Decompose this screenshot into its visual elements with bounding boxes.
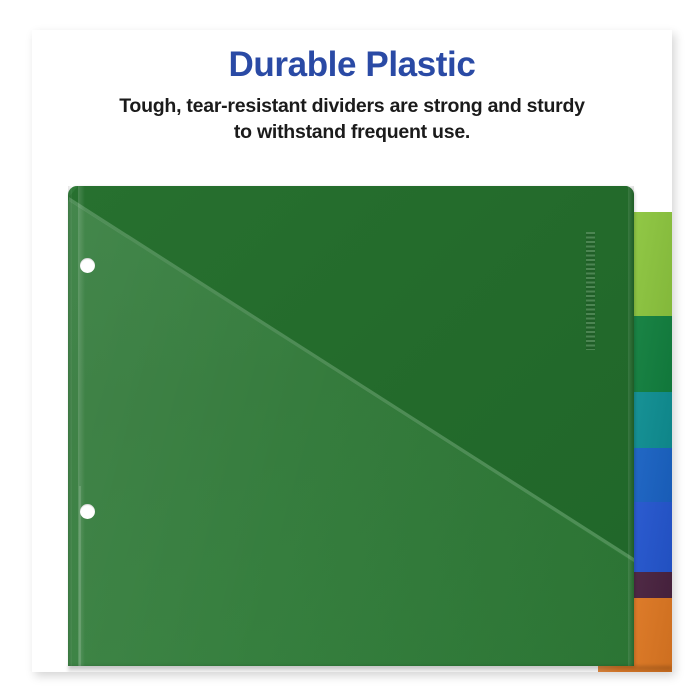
- divider-sheet: [68, 186, 634, 666]
- product-card: Durable Plastic Tough, tear-resistant di…: [32, 30, 672, 672]
- right-edge-seam: [628, 186, 634, 666]
- punch-hole-bottom: [80, 504, 95, 519]
- reinforcement-ridge-strip: [586, 232, 595, 350]
- subtitle-line-1: Tough, tear-resistant dividers are stron…: [119, 95, 585, 117]
- punch-hole-top: [80, 258, 95, 273]
- product-bottom-shadow: [68, 666, 672, 672]
- product-image-canvas: Durable Plastic Tough, tear-resistant di…: [0, 0, 700, 700]
- subtitle-line-2: to withstand frequent use.: [234, 121, 470, 143]
- divider-product-photo: [68, 186, 672, 672]
- headline-block: Durable Plastic Tough, tear-resistant di…: [32, 30, 672, 146]
- page-title: Durable Plastic: [32, 47, 672, 84]
- page-subtitle: Tough, tear-resistant dividers are stron…: [32, 94, 672, 146]
- binding-edge: [68, 186, 72, 666]
